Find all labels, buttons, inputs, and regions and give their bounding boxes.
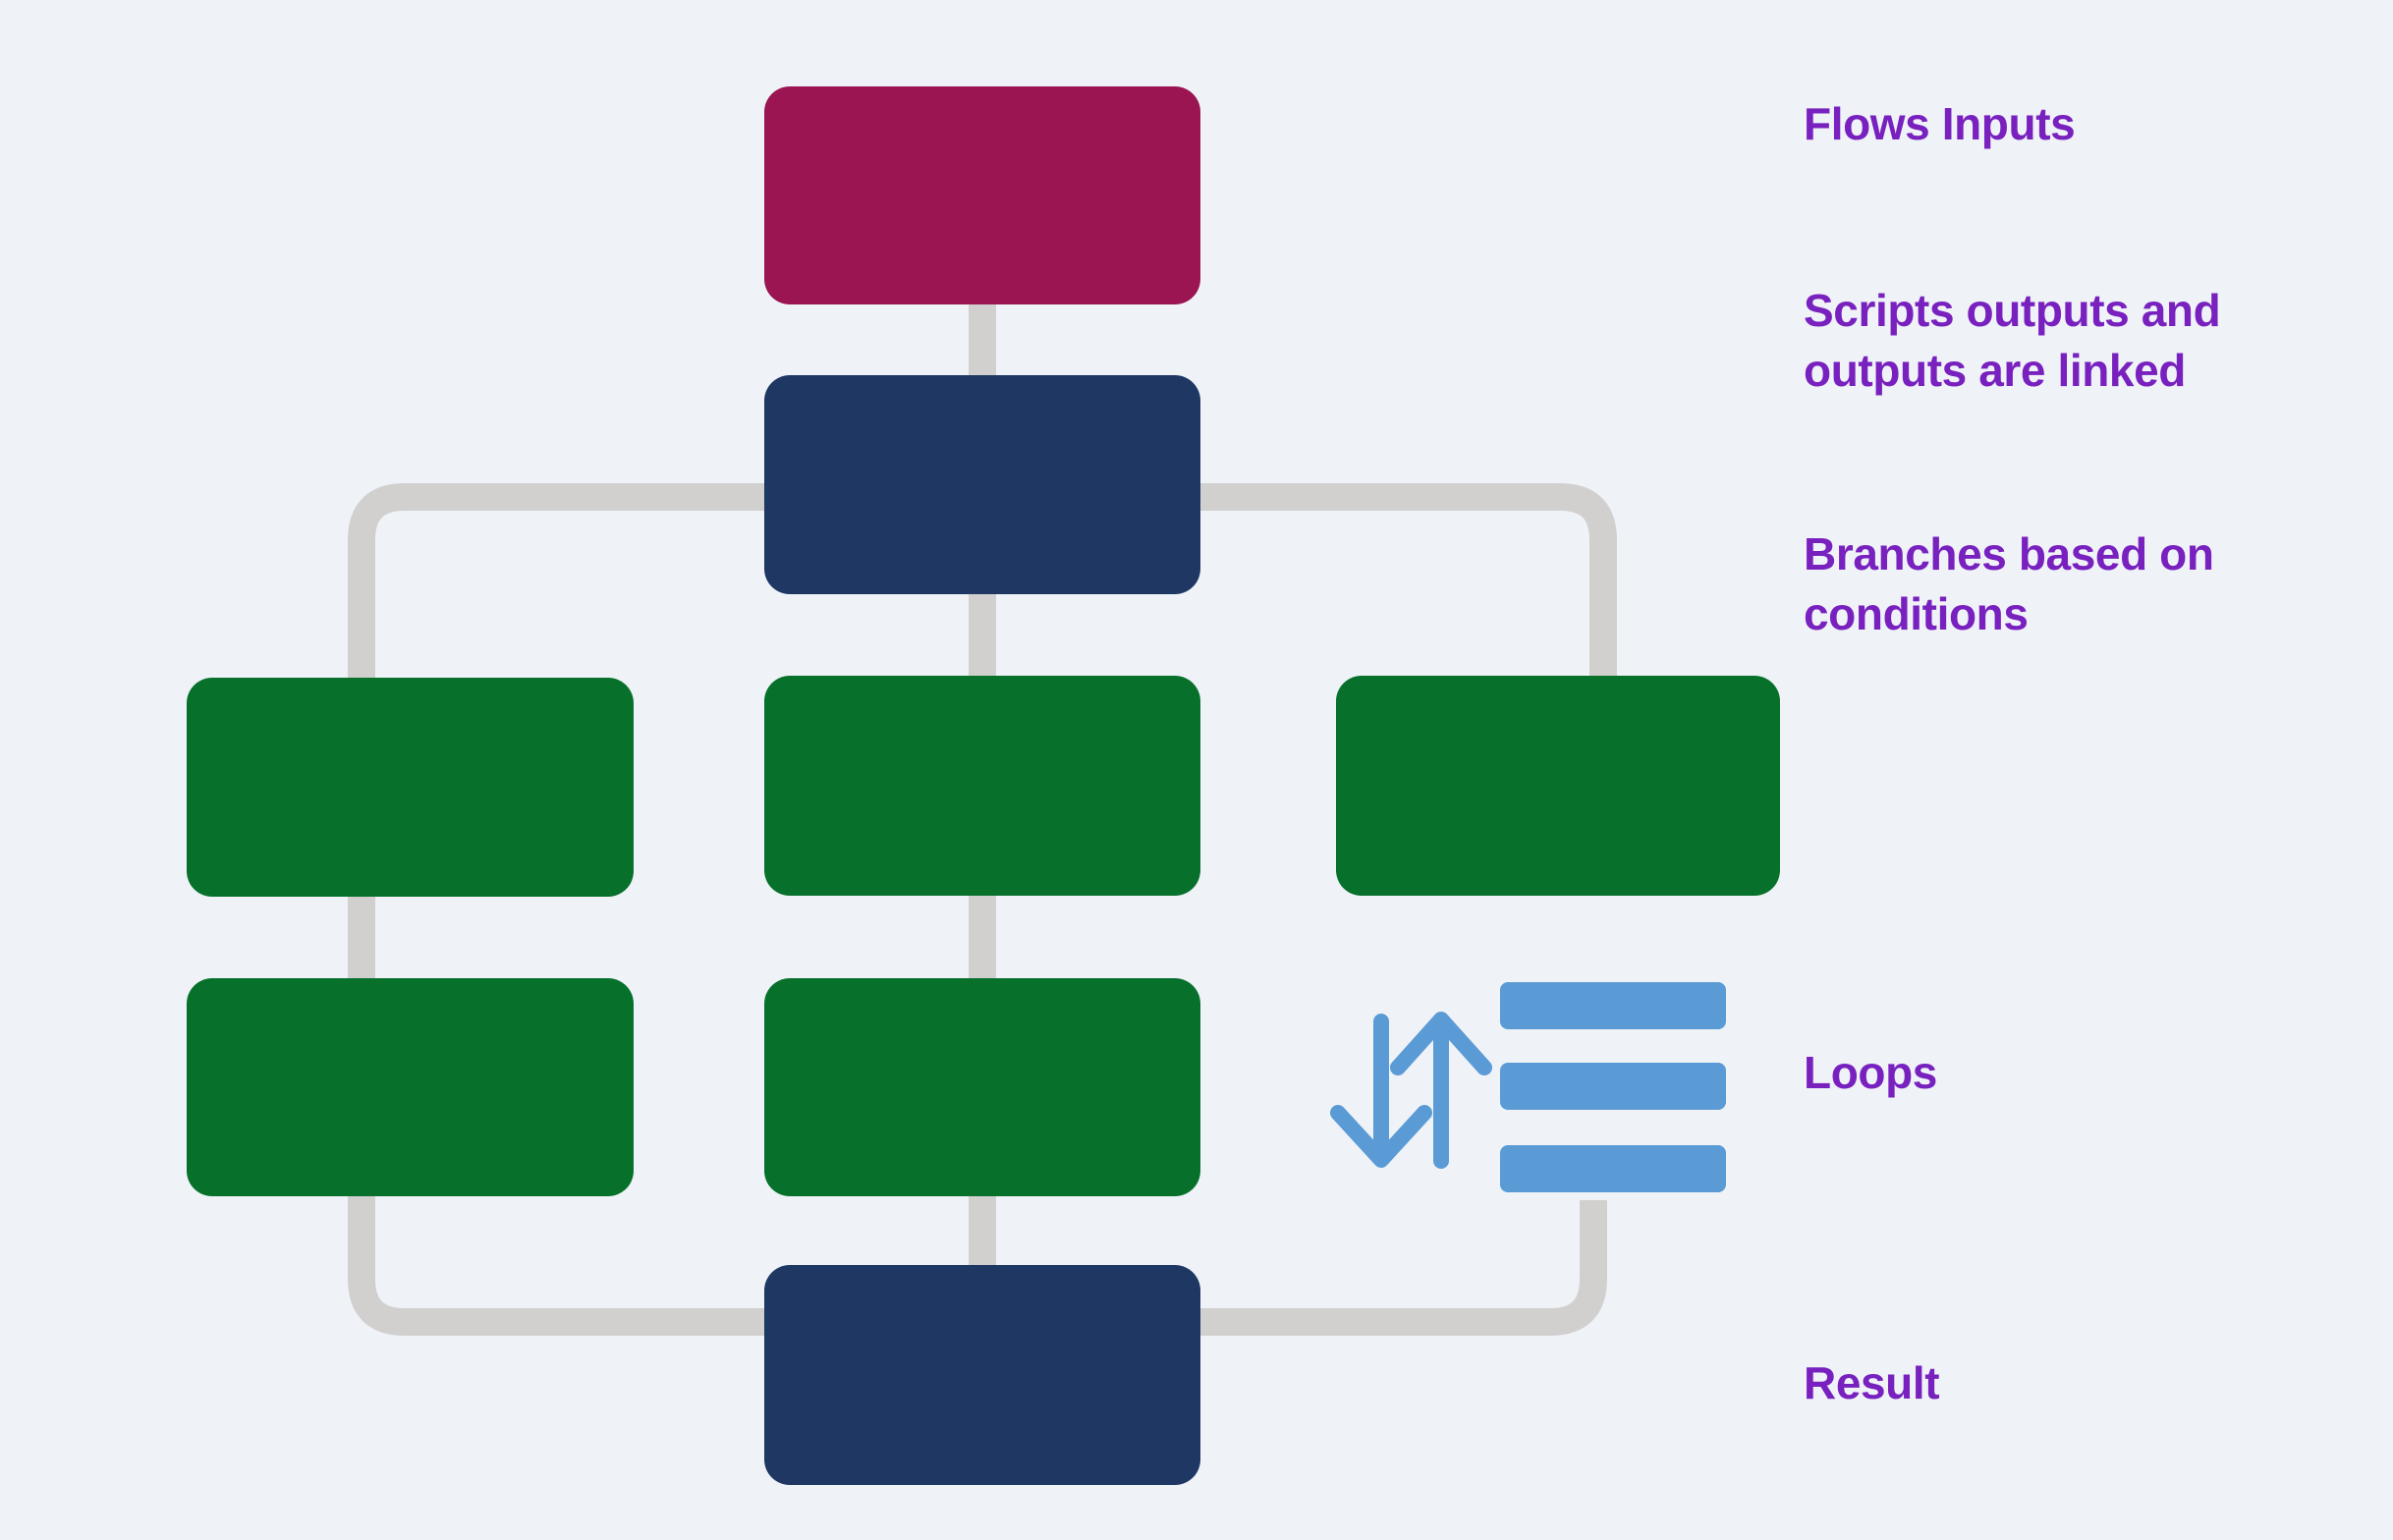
annotation-result: Result: [1804, 1353, 2354, 1413]
node-branch-right-1[interactable]: [1336, 676, 1780, 896]
annotation-branches: Branches based on conditions: [1804, 524, 2354, 643]
node-branch-center-2[interactable]: [764, 978, 1200, 1196]
node-script-root[interactable]: [764, 375, 1200, 594]
node-flows-input[interactable]: [764, 86, 1200, 304]
connector-right-return: [1179, 1200, 1593, 1322]
node-branch-center-1[interactable]: [764, 676, 1200, 896]
node-result[interactable]: [764, 1265, 1200, 1485]
node-layer: [187, 86, 1780, 1485]
loop-arrows: [1338, 1019, 1484, 1161]
flow-canvas: [0, 0, 2393, 1540]
node-branch-left-1[interactable]: [187, 678, 634, 897]
loop-bars: [1500, 982, 1726, 1192]
loop-bar-1[interactable]: [1500, 982, 1726, 1029]
loop-bar-2[interactable]: [1500, 1063, 1726, 1110]
connector-left-return: [362, 1182, 786, 1322]
node-branch-left-2[interactable]: [187, 978, 634, 1196]
annotation-scripts-linked: Scripts outputs and outputs are linked: [1804, 281, 2373, 400]
flow-diagram: Flows Inputs Scripts outputs and outputs…: [0, 0, 2393, 1540]
arrow-up-icon: [1398, 1019, 1484, 1161]
loop-bar-3[interactable]: [1500, 1145, 1726, 1192]
annotation-loops: Loops: [1804, 1043, 2354, 1103]
annotation-flows-inputs: Flows Inputs: [1804, 94, 2354, 154]
